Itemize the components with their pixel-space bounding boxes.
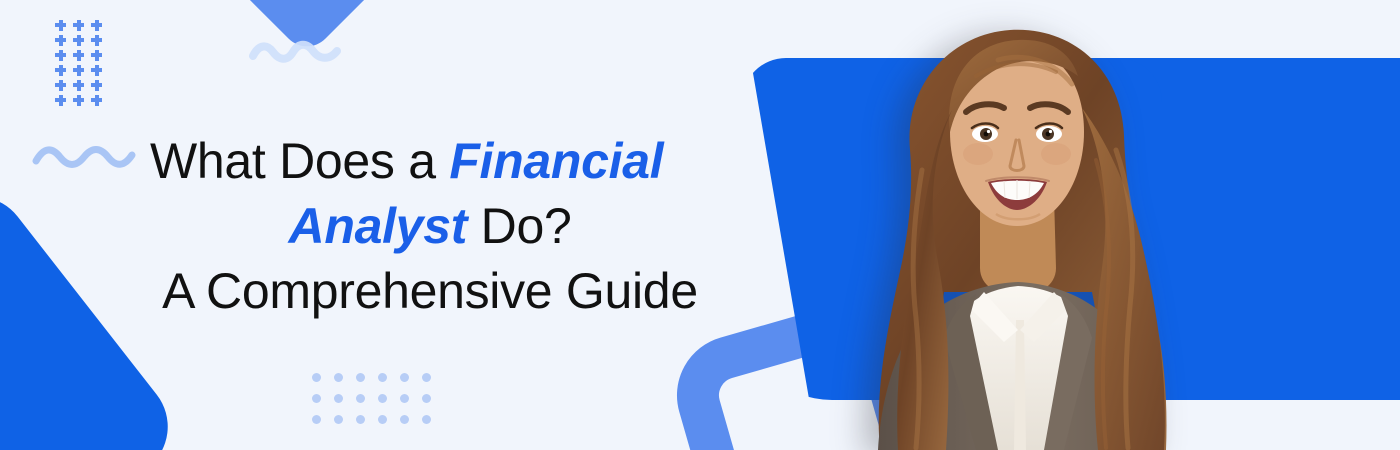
dot-icon: [422, 415, 431, 424]
smiling-businesswoman-photo: [858, 0, 1178, 450]
dot-icon: [422, 373, 431, 382]
wave-line-icon: [245, 38, 345, 68]
plus-icon: [52, 18, 70, 33]
headline-subtitle: A Comprehensive Guide: [150, 259, 710, 324]
plus-icon: [52, 48, 70, 63]
plus-icon: [70, 93, 88, 108]
plus-icon: [88, 78, 106, 93]
page-title: What Does a Financial Analyst Do? A Comp…: [150, 129, 710, 324]
plus-icon: [70, 18, 88, 33]
dot-icon: [334, 373, 343, 382]
dot-grid-decoration: [312, 373, 444, 436]
plus-icon: [88, 48, 106, 63]
plus-icon: [88, 33, 106, 48]
plus-icon: [70, 63, 88, 78]
plus-icon: [88, 93, 106, 108]
dot-icon: [334, 394, 343, 403]
dot-icon: [378, 394, 387, 403]
plus-icon: [88, 63, 106, 78]
headline-part-plain: Do?: [467, 198, 571, 254]
headline-part-accent: Financial: [449, 133, 663, 189]
dot-icon: [334, 415, 343, 424]
headline-part-plain: What Does a: [150, 133, 449, 189]
plus-icon: [70, 48, 88, 63]
plus-icon: [52, 78, 70, 93]
plus-icon: [52, 93, 70, 108]
plus-icon: [88, 18, 106, 33]
dot-icon: [312, 373, 321, 382]
plus-grid-decoration: [52, 18, 106, 108]
plus-icon: [70, 33, 88, 48]
dot-icon: [378, 415, 387, 424]
headline-part-accent: Analyst: [289, 198, 468, 254]
wave-line-icon: [32, 143, 138, 171]
dot-icon: [312, 415, 321, 424]
hero-banner: What Does a Financial Analyst Do? A Comp…: [0, 0, 1400, 450]
dot-icon: [378, 373, 387, 382]
dot-icon: [356, 394, 365, 403]
dot-icon: [422, 394, 431, 403]
dot-icon: [400, 373, 409, 382]
dot-icon: [400, 394, 409, 403]
rotated-rounded-square-shape: [201, 0, 413, 57]
dot-icon: [356, 415, 365, 424]
plus-icon: [52, 33, 70, 48]
plus-icon: [52, 63, 70, 78]
dot-icon: [356, 373, 365, 382]
dot-icon: [312, 394, 321, 403]
plus-icon: [70, 78, 88, 93]
dot-icon: [400, 415, 409, 424]
